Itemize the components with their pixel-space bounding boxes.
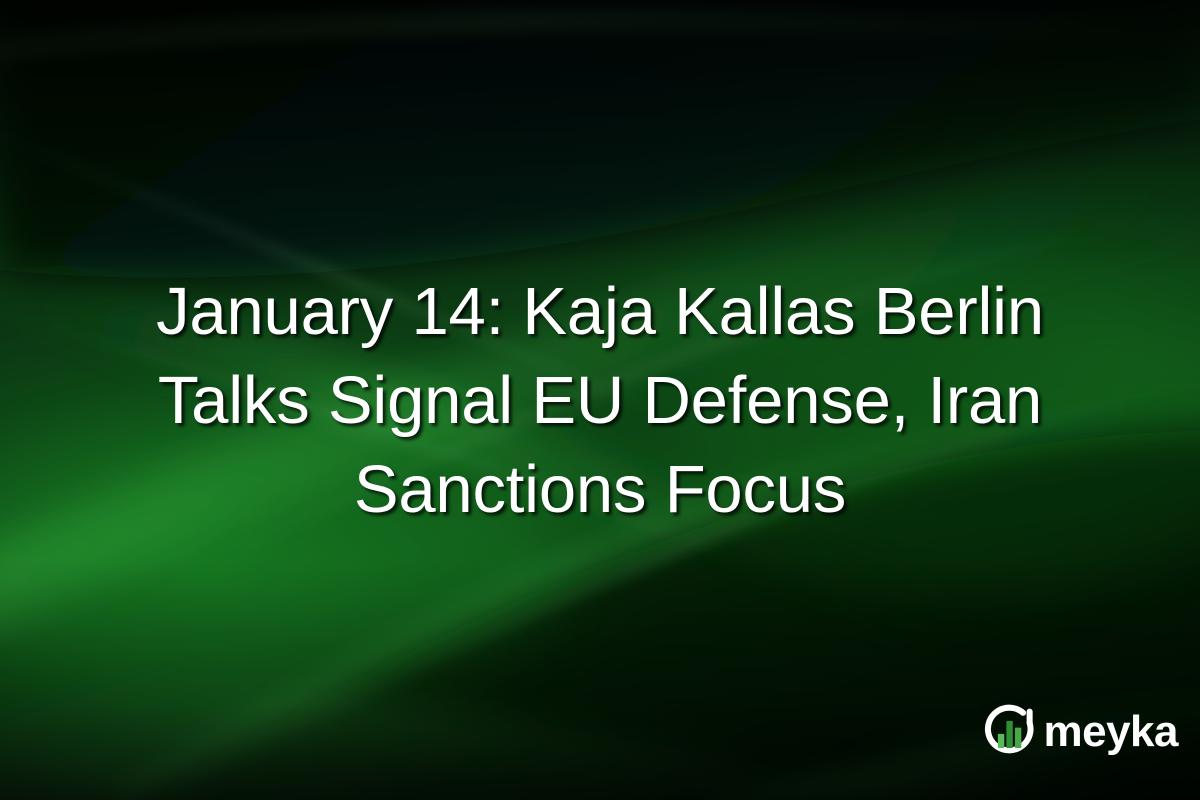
hero-banner: January 14: Kaja Kallas Berlin Talks Sig…	[0, 0, 1200, 800]
logo-bar-3	[1015, 728, 1021, 748]
headline-block: January 14: Kaja Kallas Berlin Talks Sig…	[0, 0, 1200, 800]
headline-line-1: January 14: Kaja Kallas Berlin	[46, 267, 1154, 356]
brand-logo[interactable]: meyka	[978, 700, 1178, 762]
logo-bar-1	[998, 734, 1004, 748]
brand-wordmark: meyka	[1043, 710, 1178, 754]
logo-bar-2	[1007, 721, 1013, 748]
meyka-chart-circle-icon	[978, 700, 1040, 762]
headline-line-2: Talks Signal EU Defense, Iran	[46, 356, 1154, 445]
page-title: January 14: Kaja Kallas Berlin Talks Sig…	[0, 267, 1200, 534]
headline-line-3: Sanctions Focus	[46, 445, 1154, 534]
